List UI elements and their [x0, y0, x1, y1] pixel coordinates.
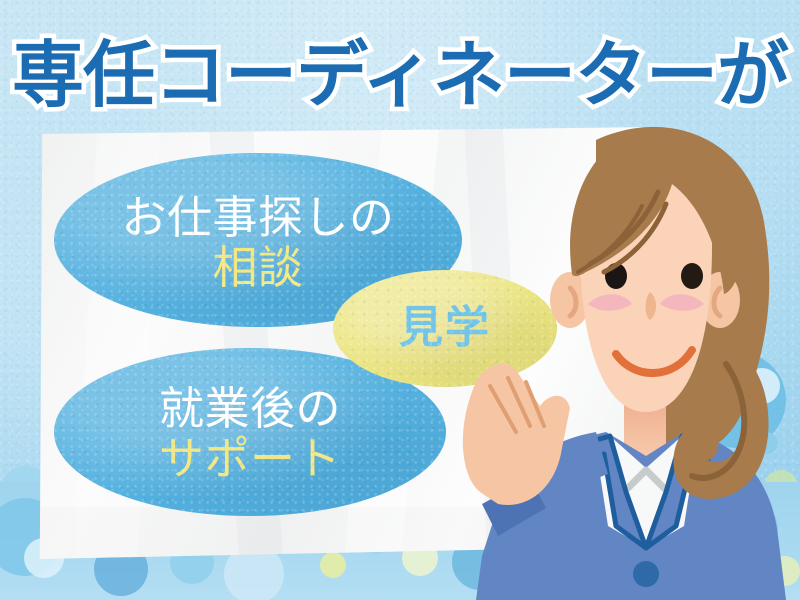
bubble-label-primary: お仕事探しの	[121, 194, 394, 242]
banner-canvas: お仕事探しの 相談 就業後の サポート 見学	[0, 0, 800, 600]
illustration-coordinator-woman	[420, 96, 800, 600]
bubble-label-secondary: 相談	[212, 244, 303, 292]
bubble-label-secondary: サポート	[159, 435, 341, 483]
eye-right	[681, 263, 703, 289]
jacket-button	[633, 561, 659, 587]
decor-bubble	[320, 552, 346, 578]
page-title: 専任コーディネーターが	[0, 16, 800, 121]
bubble-label-primary: 就業後の	[159, 385, 341, 433]
